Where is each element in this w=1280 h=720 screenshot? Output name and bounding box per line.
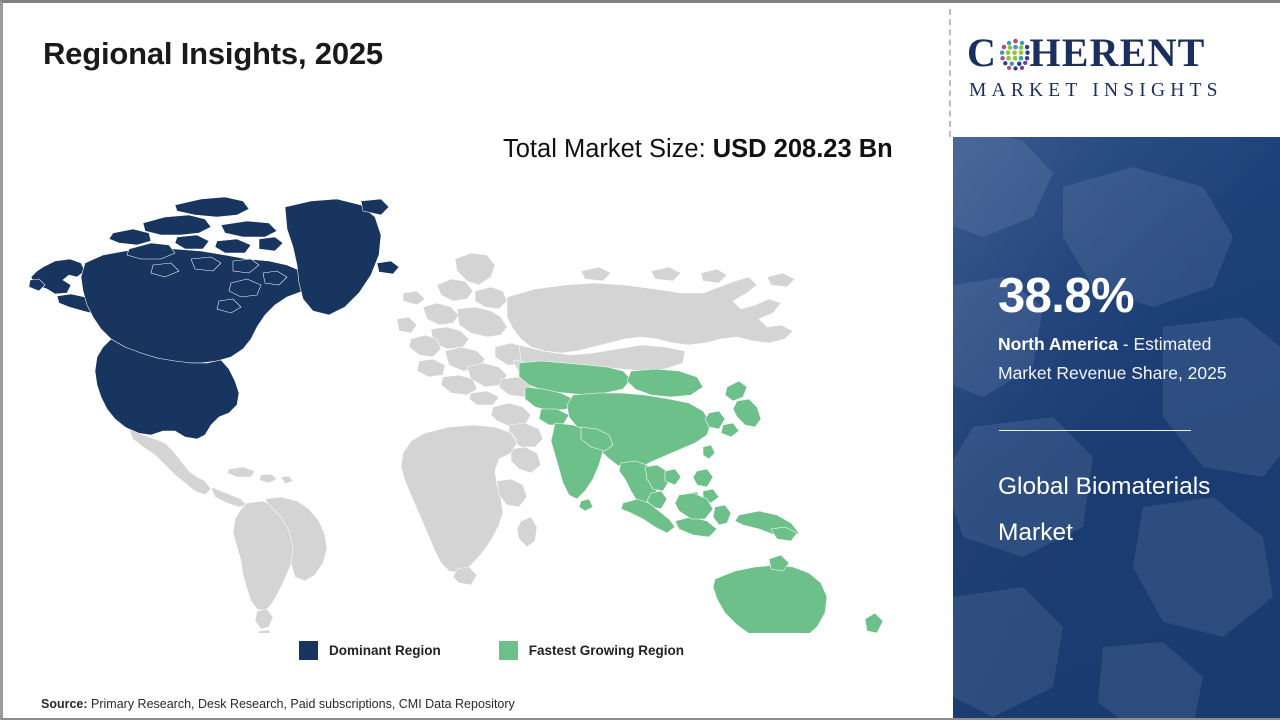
legend-swatch-navy — [299, 641, 318, 660]
logo-wordmark-rest: HERENT — [1029, 30, 1205, 75]
map-region-north-america — [29, 197, 399, 507]
total-market-size: Total Market Size: USD 208.23 Bn — [503, 129, 928, 169]
globe-dots-icon — [997, 36, 1034, 73]
stat-region-name: North America — [998, 334, 1118, 354]
total-market-size-value: USD 208.23 Bn — [713, 135, 893, 163]
stat-panel-content: 38.8% North America - Estimated Market R… — [998, 137, 1266, 720]
stat-panel: 38.8% North America - Estimated Market R… — [953, 137, 1280, 720]
map-region-south-america — [233, 497, 327, 633]
company-logo: COHERENT — [965, 23, 1265, 115]
legend-label-fastest-growing-region: Fastest Growing Region — [529, 643, 684, 658]
legend-item-dominant-region: Dominant Region — [299, 641, 441, 660]
total-market-size-label: Total Market Size: — [503, 135, 713, 163]
legend-label-dominant-region: Dominant Region — [329, 643, 441, 658]
legend-item-fastest-growing-region: Fastest Growing Region — [499, 641, 684, 660]
market-name: Global Biomaterials Market — [998, 464, 1248, 556]
logo-wordmark-c: C — [967, 30, 997, 75]
page-title: Regional Insights, 2025 — [43, 36, 383, 72]
source-label: Source: — [41, 697, 88, 711]
logo-subtitle: MARKET INSIGHTS — [969, 80, 1223, 102]
stat-percentage: 38.8% — [998, 272, 1134, 321]
legend-swatch-green — [499, 641, 518, 660]
vertical-divider — [949, 9, 951, 137]
map-region-russia — [507, 267, 795, 371]
globe-dots-svg — [997, 36, 1034, 73]
stat-description: North America - Estimated Market Revenue… — [998, 330, 1264, 388]
world-map-svg — [25, 181, 925, 633]
panel-divider — [999, 430, 1191, 431]
source-text: Primary Research, Desk Research, Paid su… — [88, 697, 515, 711]
regional-insights-infographic: Regional Insights, 2025 Total Market Siz… — [0, 0, 1280, 720]
map-region-asia-pacific — [519, 361, 887, 633]
source-note: Source: Primary Research, Desk Research,… — [41, 697, 515, 711]
world-map — [25, 181, 925, 633]
map-legend: Dominant Region Fastest Growing Region — [299, 641, 684, 660]
